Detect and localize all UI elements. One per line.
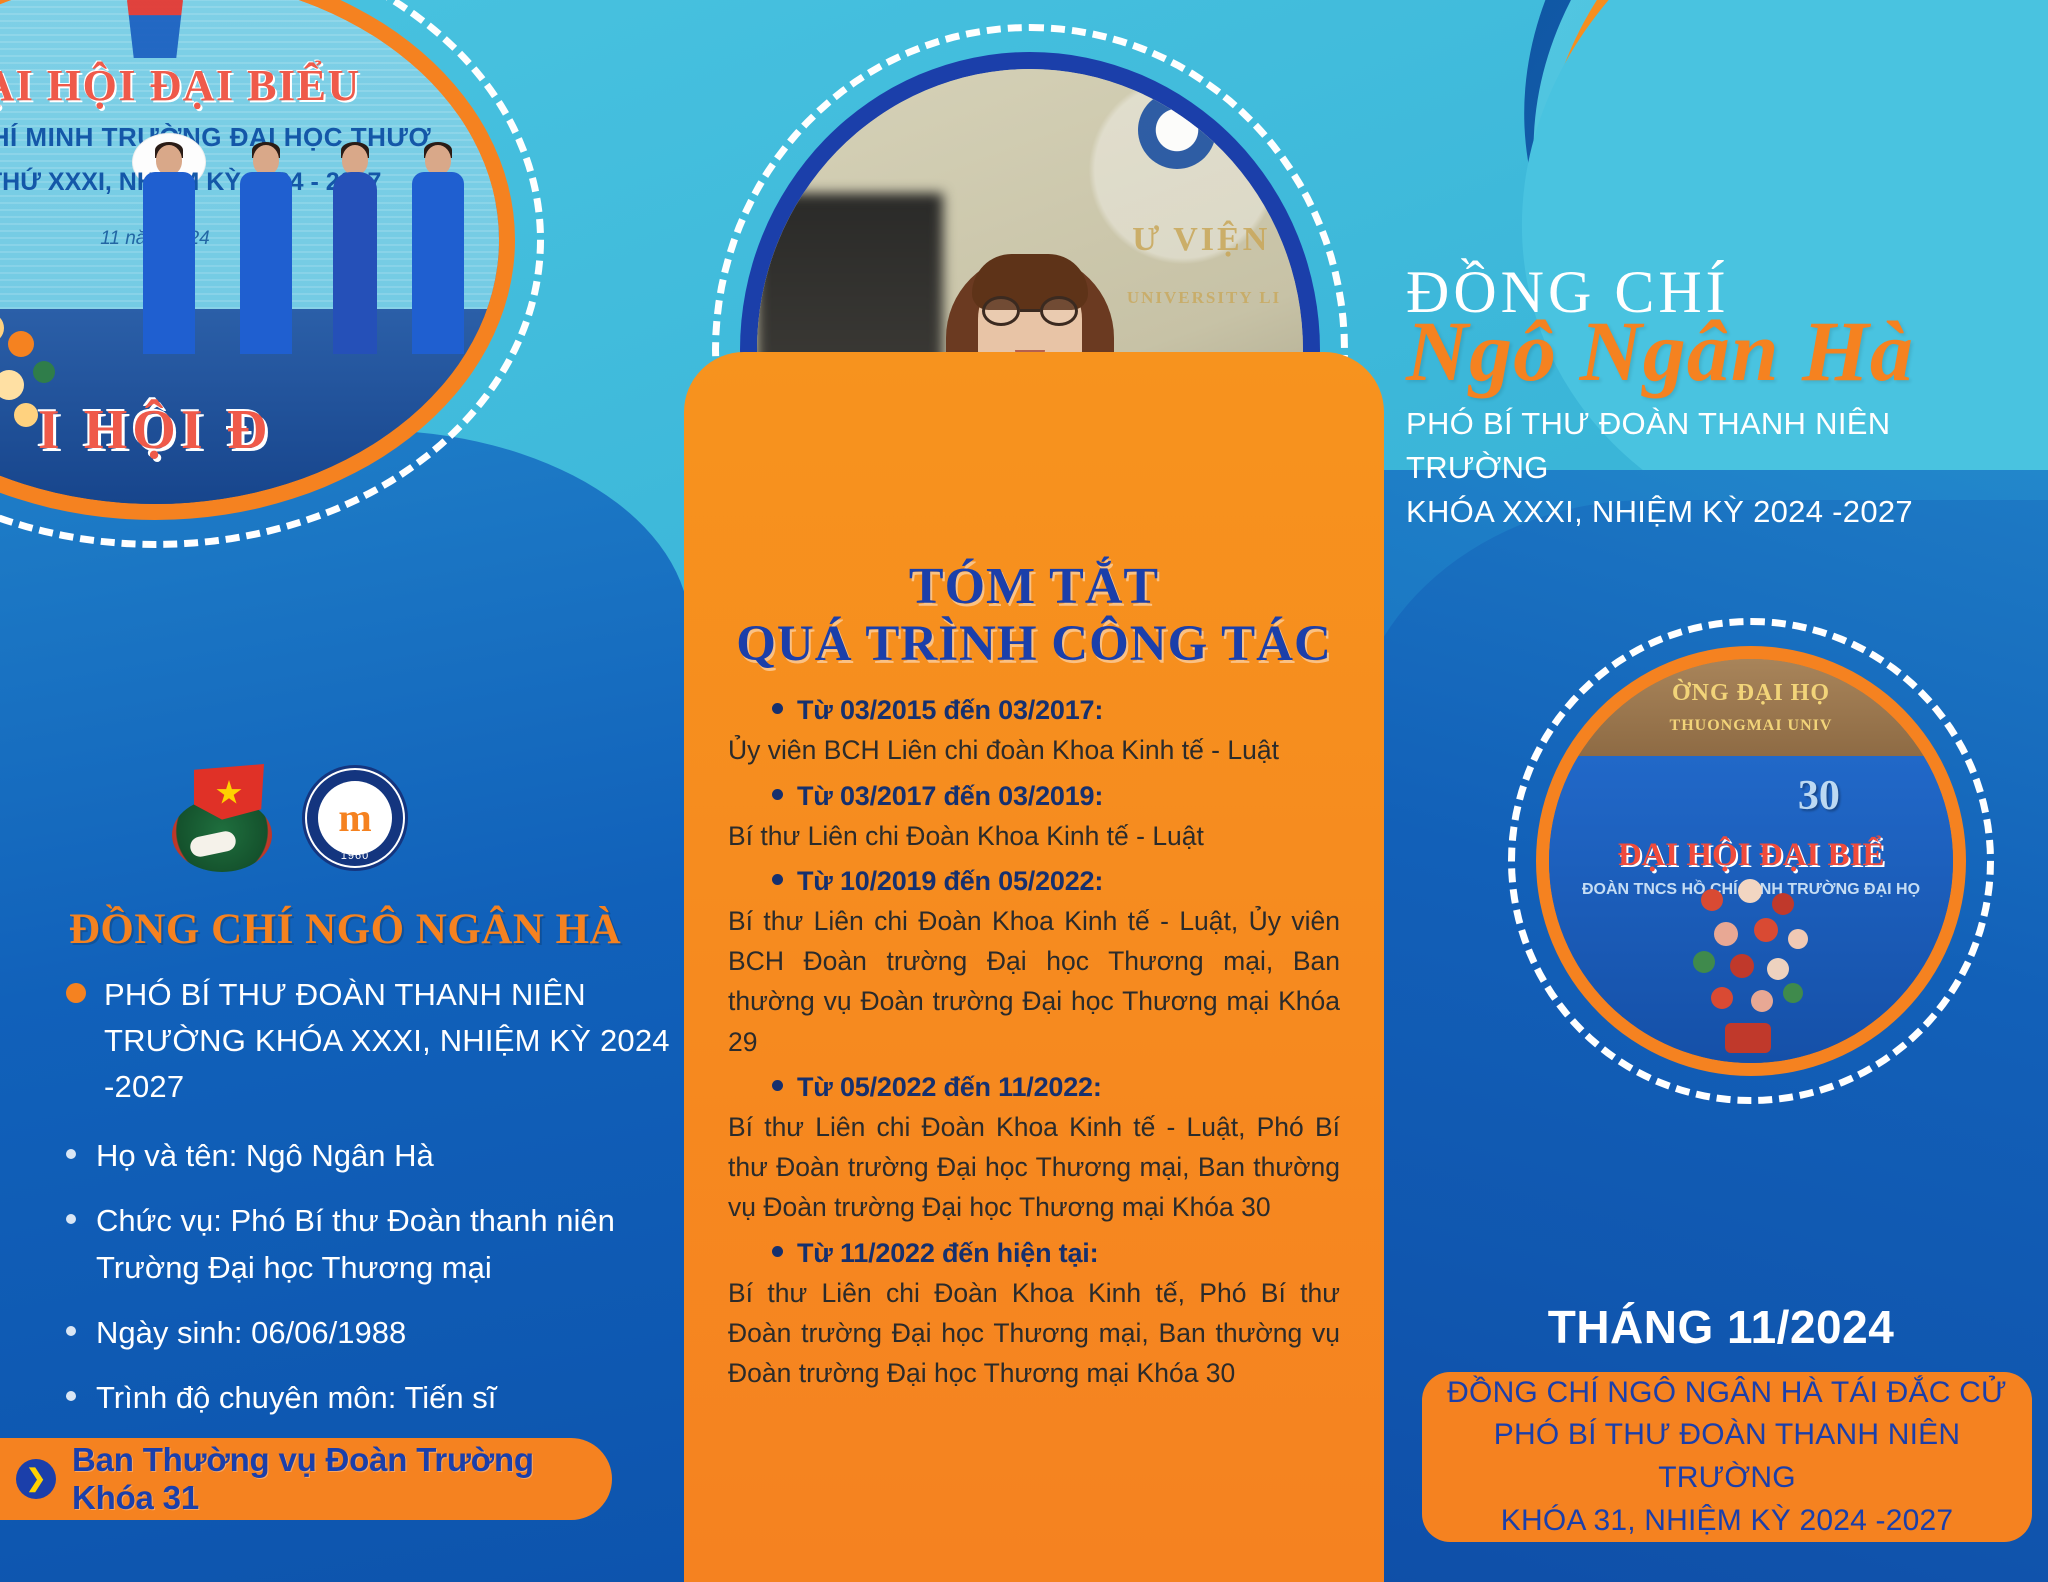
header-role-line2: KHÓA XXXI, NHIỆM KỲ 2024 -2027 — [1406, 490, 2036, 534]
photo-conference-topleft: ĐẠI HỘI ĐẠI BIỂU CS HỒ CHÍ MINH TRƯỜNG Đ… — [0, 0, 515, 520]
anniversary-logo-icon: 30 — [1798, 772, 1840, 820]
bullet-icon — [66, 1326, 76, 1336]
timeline-description: Bí thư Liên chi Đoàn Khoa Kinh tế - Luật… — [728, 901, 1340, 1062]
left-panel-details: PHÓ BÍ THƯ ĐOÀN THANH NIÊN TRƯỜNG KHÓA X… — [66, 972, 674, 1504]
bullet-icon — [66, 1214, 76, 1224]
wood-sign-line1: ỜNG ĐẠI HỌ — [1549, 680, 1953, 707]
timeline-item: Từ 05/2022 đến 11/2022: Bí thư Liên chi … — [728, 1072, 1340, 1228]
career-summary-title: TÓM TẮT QUÁ TRÌNH CÔNG TÁC — [728, 558, 1340, 673]
organization-pill-label: Ban Thường vụ Đoàn Trường Khóa 31 — [72, 1441, 612, 1517]
badge-line3: KHÓA 31, NHIỆM KỲ 2024 -2027 — [1422, 1500, 2032, 1543]
header-block: ĐỒNG CHÍ Ngô Ngân Hà PHÓ BÍ THƯ ĐOÀN THA… — [1406, 262, 2036, 534]
detail-text: Họ và tên: Ngô Ngân Hà — [96, 1132, 434, 1179]
detail-row: Ngày sinh: 06/06/1988 — [66, 1309, 674, 1356]
thuongmai-university-seal-icon: m 1960 — [302, 765, 408, 871]
people-group-topleft — [0, 145, 499, 388]
bullet-icon — [772, 703, 783, 714]
reelection-badge-text: ĐỒNG CHÍ NGÔ NGÂN HÀ TÁI ĐẮC CỬ PHÓ BÍ T… — [1422, 1372, 2032, 1542]
detail-row: Chức vụ: Phó Bí thư Đoàn thanh niên Trườ… — [66, 1197, 674, 1291]
timeline-description: Bí thư Liên chi Đoàn Khoa Kinh tế - Luật… — [728, 1107, 1340, 1228]
timeline-item: Từ 11/2022 đến hiện tại: Bí thư Liên chi… — [728, 1238, 1340, 1394]
timeline-item: Từ 03/2015 đến 03/2017: Ủy viên BCH Liên… — [728, 695, 1340, 770]
detail-row: Họ và tên: Ngô Ngân Hà — [66, 1132, 674, 1179]
timeline-item: Từ 03/2017 đến 03/2019: Bí thư Liên chi … — [728, 781, 1340, 856]
badge-line2: PHÓ BÍ THƯ ĐOÀN THANH NIÊN TRƯỜNG — [1422, 1414, 2032, 1499]
timeline-item: Từ 10/2019 đến 05/2022: Bí thư Liên chi … — [728, 866, 1340, 1062]
youth-union-emblem-icon — [168, 762, 280, 874]
banner-title: ĐẠI HỘI ĐẠI BIỂU — [0, 60, 499, 111]
timeline-period-row: Từ 11/2022 đến hiện tại: — [728, 1238, 1340, 1269]
timeline-period: Từ 03/2017 đến 03/2019: — [797, 781, 1103, 812]
photo-image-topleft: ĐẠI HỘI ĐẠI BIỂU CS HỒ CHÍ MINH TRƯỜNG Đ… — [0, 0, 499, 504]
photo-congress-bottomright: ỜNG ĐẠI HỌ THUONGMAI UNIV 30 ĐẠI HỘI ĐẠI… — [1536, 646, 1966, 1076]
bullet-icon — [66, 1391, 76, 1401]
seal-year: 1960 — [302, 850, 408, 862]
photo-ring-orange-bottomright: ỜNG ĐẠI HỌ THUONGMAI UNIV 30 ĐẠI HỘI ĐẠI… — [1536, 646, 1966, 1076]
wood-sign-line2: THUONGMAI UNIV — [1549, 717, 1953, 735]
flower-bouquet-bottomright — [1685, 875, 1817, 1055]
bullet-icon — [772, 874, 783, 885]
left-lead-row: PHÓ BÍ THƯ ĐOÀN THANH NIÊN TRƯỜNG KHÓA X… — [66, 972, 674, 1110]
timeline-description: Ủy viên BCH Liên chi đoàn Khoa Kinh tế -… — [728, 730, 1340, 770]
lead-bullet-icon — [66, 983, 86, 1003]
bullet-icon — [772, 1080, 783, 1091]
left-lead-text: PHÓ BÍ THƯ ĐOÀN THANH NIÊN TRƯỜNG KHÓA X… — [104, 972, 674, 1110]
detail-text: Chức vụ: Phó Bí thư Đoàn thanh niên Trườ… — [96, 1197, 674, 1291]
timeline-period-row: Từ 03/2017 đến 03/2019: — [728, 781, 1340, 812]
stage-headline: I HỘI Đ — [0, 398, 499, 462]
career-summary-panel: TÓM TẮT QUÁ TRÌNH CÔNG TÁC Từ 03/2015 đế… — [684, 352, 1384, 1582]
organization-pill-button[interactable]: ❯ Ban Thường vụ Đoàn Trường Khóa 31 — [0, 1438, 612, 1520]
bullet-icon — [772, 789, 783, 800]
career-title-line2: QUÁ TRÌNH CÔNG TÁC — [728, 616, 1340, 673]
career-title-line1: TÓM TẮT — [728, 558, 1340, 616]
left-panel-title: ĐỒNG CHÍ NGÔ NGÂN HÀ — [0, 905, 690, 954]
chevron-right-circle-icon: ❯ — [16, 1459, 56, 1499]
wooden-wall-sign: ỜNG ĐẠI HỌ THUONGMAI UNIV — [1549, 659, 1953, 756]
month-label: THÁNG 11/2024 — [1406, 1300, 2036, 1354]
logo-group: m 1960 — [168, 762, 408, 874]
header-role: PHÓ BÍ THƯ ĐOÀN THANH NIÊN TRƯỜNG KHÓA X… — [1406, 402, 2036, 534]
timeline-period-row: Từ 05/2022 đến 11/2022: — [728, 1072, 1340, 1103]
detail-text: Trình độ chuyên môn: Tiến sĩ — [96, 1374, 496, 1421]
poster-canvas: ĐẠI HỘI ĐẠI BIỂU CS HỒ CHÍ MINH TRƯỜNG Đ… — [0, 0, 2048, 1582]
timeline-description: Bí thư Liên chi Đoàn Khoa Kinh tế - Luật — [728, 816, 1340, 856]
header-name: Ngô Ngân Hà — [1406, 308, 2036, 396]
detail-text: Ngày sinh: 06/06/1988 — [96, 1309, 406, 1356]
header-role-line1: PHÓ BÍ THƯ ĐOÀN THANH NIÊN TRƯỜNG — [1406, 402, 2036, 490]
career-timeline: Từ 03/2015 đến 03/2017: Ủy viên BCH Liên… — [728, 695, 1340, 1393]
glasses-icon — [982, 296, 1078, 326]
timeline-period: Từ 10/2019 đến 05/2022: — [797, 866, 1103, 897]
library-seal-icon — [1138, 91, 1216, 169]
bullet-icon — [66, 1149, 76, 1159]
reelection-badge: ĐỒNG CHÍ NGÔ NGÂN HÀ TÁI ĐẮC CỬ PHÓ BÍ T… — [1422, 1372, 2032, 1542]
timeline-period: Từ 03/2015 đến 03/2017: — [797, 695, 1103, 726]
timeline-description: Bí thư Liên chi Đoàn Khoa Kinh tế, Phó B… — [728, 1273, 1340, 1394]
timeline-period: Từ 05/2022 đến 11/2022: — [797, 1072, 1102, 1103]
backdrop-title: ĐẠI HỘI ĐẠI BIỂ — [1549, 837, 1953, 874]
bullet-icon — [772, 1246, 783, 1257]
detail-row: Trình độ chuyên môn: Tiến sĩ — [66, 1374, 674, 1421]
timeline-period-row: Từ 03/2015 đến 03/2017: — [728, 695, 1340, 726]
timeline-period: Từ 11/2022 đến hiện tại: — [797, 1238, 1098, 1269]
photo-image-bottomright: ỜNG ĐẠI HỌ THUONGMAI UNIV 30 ĐẠI HỘI ĐẠI… — [1549, 659, 1953, 1063]
timeline-period-row: Từ 10/2019 đến 05/2022: — [728, 866, 1340, 897]
photo-ring-orange-topleft: ĐẠI HỘI ĐẠI BIỂU CS HỒ CHÍ MINH TRƯỜNG Đ… — [0, 0, 515, 520]
badge-line1: ĐỒNG CHÍ NGÔ NGÂN HÀ TÁI ĐẮC CỬ — [1422, 1372, 2032, 1415]
youth-union-logo-icon — [127, 0, 183, 58]
